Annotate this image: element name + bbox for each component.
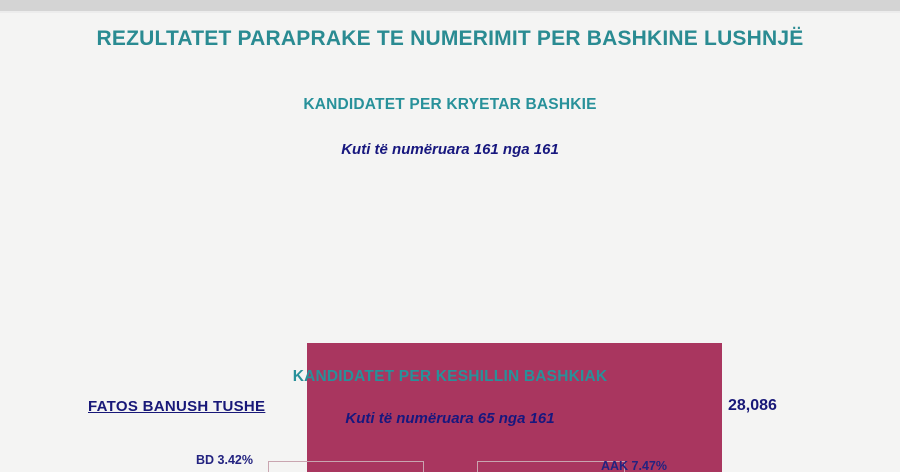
top-band-divider [0,11,900,13]
boxes-counted-note-mayor: Kuti të numëruara 161 nga 161 [0,141,900,158]
pie-slice-label-bd: BD 3.42% [196,453,253,467]
section-heading-mayor: KANDIDATET PER KRYETAR BASHKIE [0,96,900,114]
pie-slice-label-aak: AAK 7.47% [601,459,667,472]
page-title: REZULTATET PARAPRAKE TE NUMERIMIT PER BA… [0,27,900,51]
pie-callout-box-bd [268,461,424,472]
boxes-counted-note-council: Kuti të numëruara 65 nga 161 [0,410,900,427]
results-page: REZULTATET PARAPRAKE TE NUMERIMIT PER BA… [0,0,900,472]
top-grey-band [0,0,900,11]
section-heading-council: KANDIDATET PER KESHILLIN BASHKIAK [0,368,900,386]
council-pie-chart: BD 3.42% AAK 7.47% [0,450,900,472]
mayor-bar-chart: FATOS BANUSH TUSHE 28,086 [0,168,900,318]
